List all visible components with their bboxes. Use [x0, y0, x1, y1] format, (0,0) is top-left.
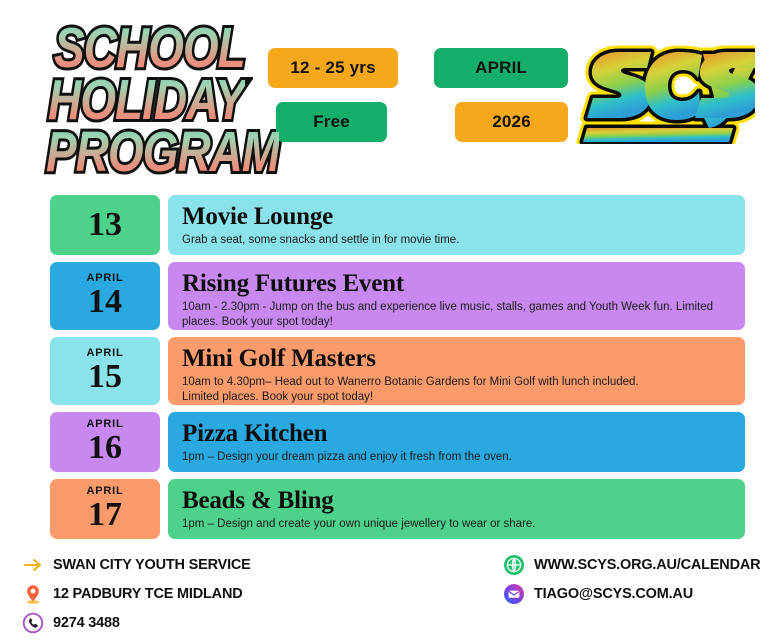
footer-contact-text: TIAGO@SCYS.COM.AU — [534, 586, 693, 602]
event-title: Beads & Bling — [182, 488, 731, 514]
event-date-cell: APRIL15 — [50, 337, 160, 405]
event-description: 1pm – Design your dream pizza and enjoy … — [182, 450, 731, 465]
event-date-cell: APRIL17 — [50, 479, 160, 539]
badge-year: 2026 — [455, 102, 568, 142]
event-row[interactable]: APRIL17Beads & Bling1pm – Design and cre… — [50, 479, 745, 539]
title-line-3: PROGRAM — [46, 126, 279, 179]
arrow-right-icon — [22, 554, 44, 576]
scys-logo-graphic — [575, 34, 755, 144]
event-description: 1pm – Design and create your own unique … — [182, 517, 731, 532]
badge-row-2: Free 2026 — [268, 102, 568, 142]
event-info-panel: Pizza Kitchen1pm – Design your dream piz… — [168, 412, 745, 472]
event-row[interactable]: APRIL15Mini Golf Masters10am to 4.30pm– … — [50, 337, 745, 405]
scys-logo — [575, 34, 755, 144]
event-description: Grab a seat, some snacks and settle in f… — [182, 233, 731, 248]
event-row[interactable]: 13Movie LoungeGrab a seat, some snacks a… — [50, 195, 745, 255]
event-info-panel: Rising Futures Event10am - 2.30pm - Jump… — [168, 262, 745, 330]
footer-contact-item[interactable]: SWAN CITY YOUTH SERVICE — [22, 552, 251, 578]
event-row[interactable]: APRIL16Pizza Kitchen1pm – Design your dr… — [50, 412, 745, 472]
flyer-page: SCHOOL SCHOOL HOLIDAY HOLIDAY PROGRAM PR… — [0, 0, 768, 644]
event-info-panel: Movie LoungeGrab a seat, some snacks and… — [168, 195, 745, 255]
event-description: 10am - 2.30pm - Jump on the bus and expe… — [182, 300, 731, 329]
badge-age-range: 12 - 25 yrs — [268, 48, 398, 88]
phone-icon — [22, 612, 44, 634]
footer-contact-item[interactable]: WWW.SCYS.ORG.AU/CALENDAR — [503, 552, 760, 578]
footer-contact-item[interactable]: 9274 3488 — [22, 610, 251, 636]
event-date-day: 15 — [88, 360, 122, 394]
event-date-day: 13 — [88, 208, 122, 242]
location-pin-icon — [22, 583, 44, 605]
event-date-day: 14 — [88, 285, 122, 319]
email-icon — [503, 583, 525, 605]
footer-contact-text: 12 PADBURY TCE MIDLAND — [53, 586, 243, 602]
event-title: Movie Lounge — [182, 204, 731, 230]
globe-icon — [503, 554, 525, 576]
event-date-cell: APRIL16 — [50, 412, 160, 472]
event-description: 10am to 4.30pm– Head out to Wanerro Bota… — [182, 375, 731, 404]
footer-contact-text: SWAN CITY YOUTH SERVICE — [53, 557, 251, 573]
event-info-panel: Beads & Bling1pm – Design and create you… — [168, 479, 745, 539]
footer-contact-item[interactable]: TIAGO@SCYS.COM.AU — [503, 581, 760, 607]
event-info-panel: Mini Golf Masters10am to 4.30pm– Head ou… — [168, 337, 745, 405]
event-date-day: 17 — [88, 498, 122, 532]
event-title: Pizza Kitchen — [182, 421, 731, 447]
event-row[interactable]: APRIL14Rising Futures Event10am - 2.30pm… — [50, 262, 745, 330]
event-date-cell: APRIL14 — [50, 262, 160, 330]
event-date-day: 16 — [88, 431, 122, 465]
footer-right-column: WWW.SCYS.ORG.AU/CALENDARTIAGO@SCYS.COM.A… — [503, 552, 760, 610]
footer-left-column: SWAN CITY YOUTH SERVICE12 PADBURY TCE MI… — [22, 552, 251, 639]
footer-contact-text: 9274 3488 — [53, 615, 120, 631]
page-title: SCHOOL SCHOOL HOLIDAY HOLIDAY PROGRAM PR… — [46, 22, 266, 182]
event-date-cell: 13 — [50, 195, 160, 255]
event-list: 13Movie LoungeGrab a seat, some snacks a… — [50, 195, 745, 546]
footer-contact-text: WWW.SCYS.ORG.AU/CALENDAR — [534, 557, 760, 573]
event-title: Mini Golf Masters — [182, 346, 731, 372]
header: SCHOOL SCHOOL HOLIDAY HOLIDAY PROGRAM PR… — [0, 0, 768, 190]
badge-month: APRIL — [434, 48, 568, 88]
badge-row-1: 12 - 25 yrs APRIL — [268, 48, 568, 88]
footer-contact-item[interactable]: 12 PADBURY TCE MIDLAND — [22, 581, 251, 607]
header-badges: 12 - 25 yrs APRIL Free 2026 — [268, 48, 568, 156]
footer: SWAN CITY YOUTH SERVICE12 PADBURY TCE MI… — [0, 548, 768, 644]
badge-price: Free — [276, 102, 387, 142]
event-title: Rising Futures Event — [182, 271, 731, 297]
